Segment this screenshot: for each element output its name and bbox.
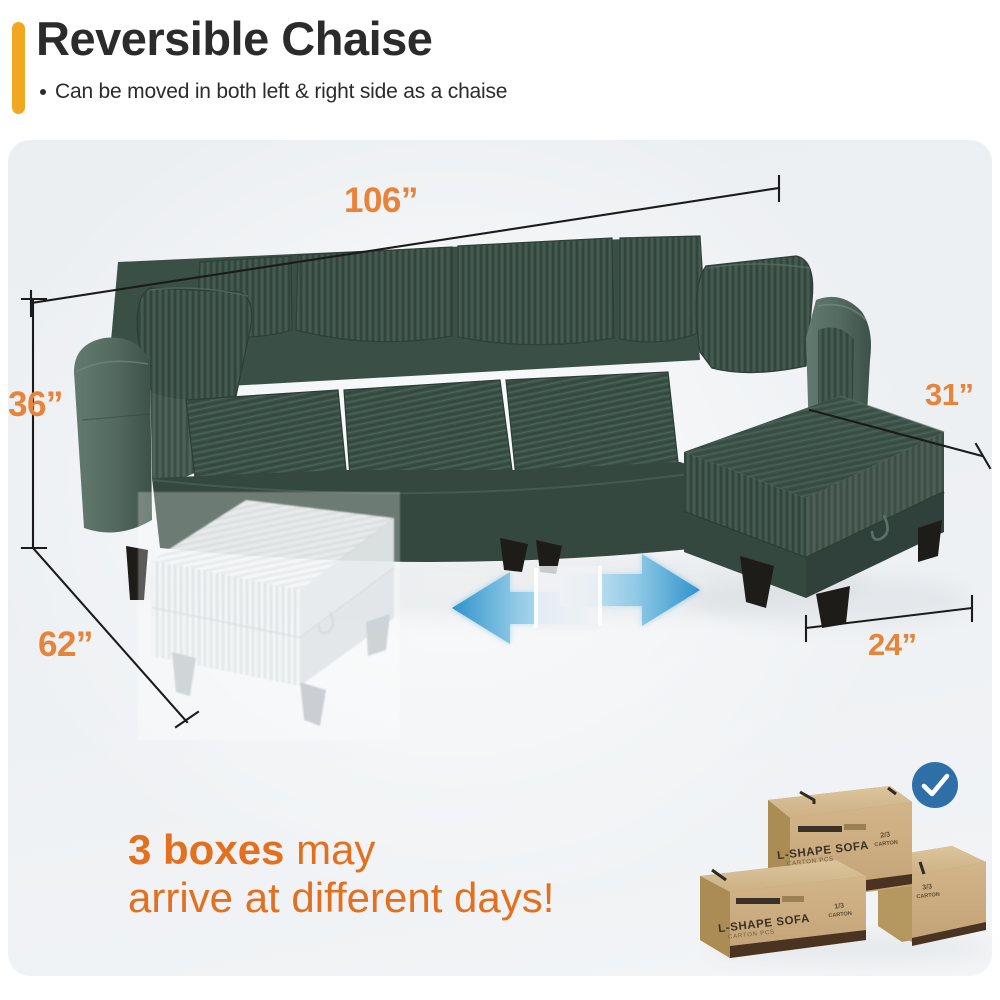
ghost-chaise-alt-position — [138, 492, 400, 740]
throw-pillow-right — [696, 256, 813, 373]
carton-number-1: 1/3 CARTON — [827, 902, 852, 921]
carton-number-3: 3/3 CARTON — [915, 883, 940, 902]
dimension-label-depth: 62” — [38, 625, 93, 665]
dimension-label-height: 36” — [8, 385, 63, 425]
shipping-headline-bold: 3 boxes — [128, 826, 284, 873]
shipping-headline-line2: arrive at different days! — [128, 874, 554, 922]
dimension-label-chaise-depth: 31” — [925, 377, 973, 413]
shipping-headline-rest: may — [284, 826, 375, 873]
approved-badge — [912, 762, 958, 808]
shipping-headline-line1: 3 boxes may — [128, 826, 554, 874]
dimension-label-chaise-width: 24” — [868, 627, 916, 663]
carton-number-2: 2/3 CARTON — [873, 831, 898, 850]
back-cushions — [196, 236, 706, 345]
shipping-headline: 3 boxes may arrive at different days! — [128, 826, 554, 922]
dimension-label-width: 106” — [344, 181, 418, 221]
infographic-root: Reversible Chaise Can be moved in both l… — [0, 0, 1000, 1000]
